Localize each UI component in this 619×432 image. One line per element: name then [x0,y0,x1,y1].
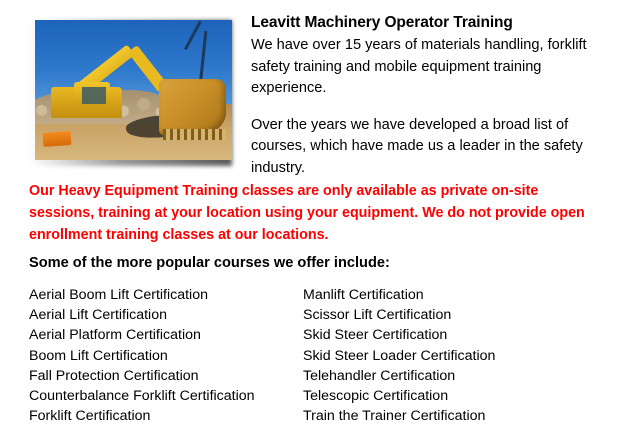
photo-frame [35,20,232,160]
private-training-notice: Our Heavy Equipment Training classes are… [29,180,604,246]
orange-site-marker [42,131,70,147]
courses-heading: Some of the more popular courses we offe… [29,253,390,273]
list-item: Aerial Platform Certification [29,325,303,345]
courses-column-right: Manlift Certification Scissor Lift Certi… [303,285,603,426]
list-item: Forklift Certification [29,406,303,426]
list-item: Boom Lift Certification [29,346,303,366]
list-item: Telescopic Certification [303,386,603,406]
list-item: Aerial Boom Lift Certification [29,285,303,305]
list-item: Skid Steer Certification [303,325,603,345]
courses-list: Aerial Boom Lift Certification Aerial Li… [29,285,604,426]
list-item: Scissor Lift Certification [303,305,603,325]
excavator-bucket [159,79,226,135]
intro-paragraph-2: Over the years we have developed a broad… [251,115,603,180]
intro-section: Leavitt Machinery Operator Training We h… [0,0,619,172]
list-item: Counterbalance Forklift Certification [29,386,303,406]
list-item: Skid Steer Loader Certification [303,346,603,366]
list-item: Telehandler Certification [303,366,603,386]
intro-paragraph-1: We have over 15 years of materials handl… [251,35,603,100]
bucket-teeth [163,129,226,140]
page-root: { "colors": { "notice_red": "#ff0000", "… [0,0,619,432]
list-item: Manlift Certification [303,285,603,305]
list-item: Train the Trainer Certification [303,406,603,426]
list-item: Aerial Lift Certification [29,305,303,325]
excavator-cab-window [82,87,106,104]
intro-text-block: Leavitt Machinery Operator Training We h… [251,12,603,179]
page-title: Leavitt Machinery Operator Training [251,12,603,34]
excavator-photo [29,14,234,160]
list-item: Fall Protection Certification [29,366,303,386]
courses-column-left: Aerial Boom Lift Certification Aerial Li… [29,285,303,426]
